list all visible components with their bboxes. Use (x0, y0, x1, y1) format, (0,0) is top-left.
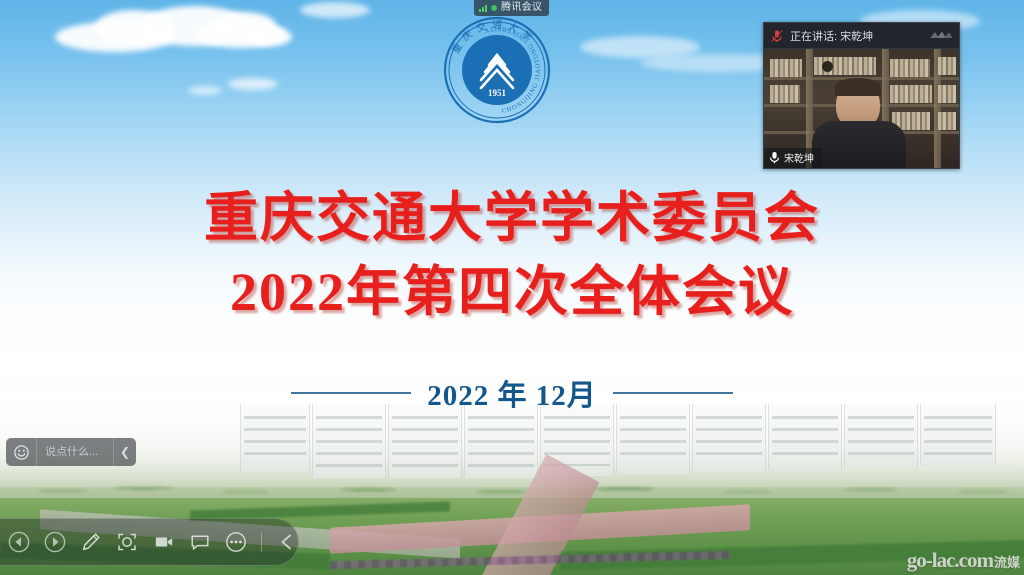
annotate-button[interactable] (80, 529, 102, 555)
play-button[interactable] (44, 529, 66, 555)
shelf-clock-object (822, 61, 833, 72)
microphone-icon (769, 151, 780, 164)
tencent-meeting-label: 腾讯会议 (501, 0, 542, 16)
books-row (938, 85, 956, 103)
slide-subtitle-block: 2022 年 12月 (0, 372, 1024, 414)
books-row (938, 57, 956, 75)
watermark-text: go-lac.com (907, 548, 993, 572)
chat-input-bar[interactable]: 说点什么... ❮ (6, 438, 136, 466)
site-watermark: go-lac.com流媒 (907, 548, 1020, 573)
speaking-status-label: 正在讲话: 宋乾坤 (790, 28, 923, 44)
screenshot-root: 腾讯会议 1951 CHONGQING JIAOTONG UNIVERSITY (0, 0, 1024, 575)
video-camera-icon (153, 531, 175, 553)
camera-button[interactable] (153, 529, 175, 555)
presentation-toolbar[interactable] (0, 518, 299, 566)
capture-frame-icon (116, 531, 138, 553)
screenshot-button[interactable] (116, 529, 138, 555)
slide-subtitle: 2022 年 12月 (427, 372, 597, 414)
participant-name: 宋乾坤 (784, 150, 814, 165)
cloud-decoration (300, 2, 370, 18)
chat-input-placeholder[interactable]: 说点什么... (36, 438, 114, 466)
cloud-decoration (188, 86, 222, 95)
books-row (890, 85, 932, 103)
participant-name-badge: 宋乾坤 (764, 148, 822, 168)
green-status-dot-icon (491, 5, 497, 11)
subtitle-rule-right (613, 392, 733, 394)
video-feed[interactable]: 宋乾坤 (764, 49, 959, 168)
chevron-left-icon[interactable]: ❮ (114, 445, 136, 459)
books-row (770, 85, 800, 103)
books-row (938, 112, 956, 130)
ellipsis-circle-icon (225, 531, 247, 553)
subtitle-rule-left (291, 392, 411, 394)
signal-bars-icon (479, 4, 487, 12)
video-panel-header: 正在讲话: 宋乾坤 (764, 23, 959, 49)
chat-button[interactable] (189, 529, 211, 555)
tencent-meeting-badge: 腾讯会议 (474, 0, 549, 16)
books-row (770, 59, 802, 77)
previous-slide-button[interactable] (8, 529, 30, 555)
circle-right-arrow-icon (44, 531, 66, 553)
circle-left-arrow-icon (8, 531, 30, 553)
emoji-smiley-icon[interactable] (6, 445, 36, 460)
seal-year: 1951 (488, 88, 507, 98)
speaker-video-panel[interactable]: 正在讲话: 宋乾坤 (763, 22, 960, 169)
slide-title-line-1: 重庆交通大学学术委员会 (0, 186, 1024, 252)
slide-title-block: 重庆交通大学学术委员会 2022年第四次全体会议 (0, 186, 1024, 326)
books-row (890, 59, 930, 77)
tencent-meeting-logo-icon (929, 29, 953, 42)
participant-hair (835, 78, 881, 96)
chevron-left-icon (277, 532, 297, 552)
participant-torso (812, 121, 906, 168)
university-seal: 1951 CHONGQING JIAOTONG UNIVERSITY 重庆交通大… (443, 16, 551, 124)
slide-title-line-2: 2022年第四次全体会议 (0, 260, 1024, 326)
cloud-decoration (228, 78, 278, 90)
pencil-icon (80, 531, 102, 553)
collapse-toolbar-button[interactable] (276, 529, 298, 555)
more-button[interactable] (225, 529, 247, 555)
speaking-mic-icon (770, 29, 784, 43)
cloud-decoration (246, 28, 292, 46)
toolbar-divider (261, 532, 262, 552)
watermark-suffix: 流媒 (994, 556, 1020, 571)
chat-bubble-icon (189, 531, 211, 553)
